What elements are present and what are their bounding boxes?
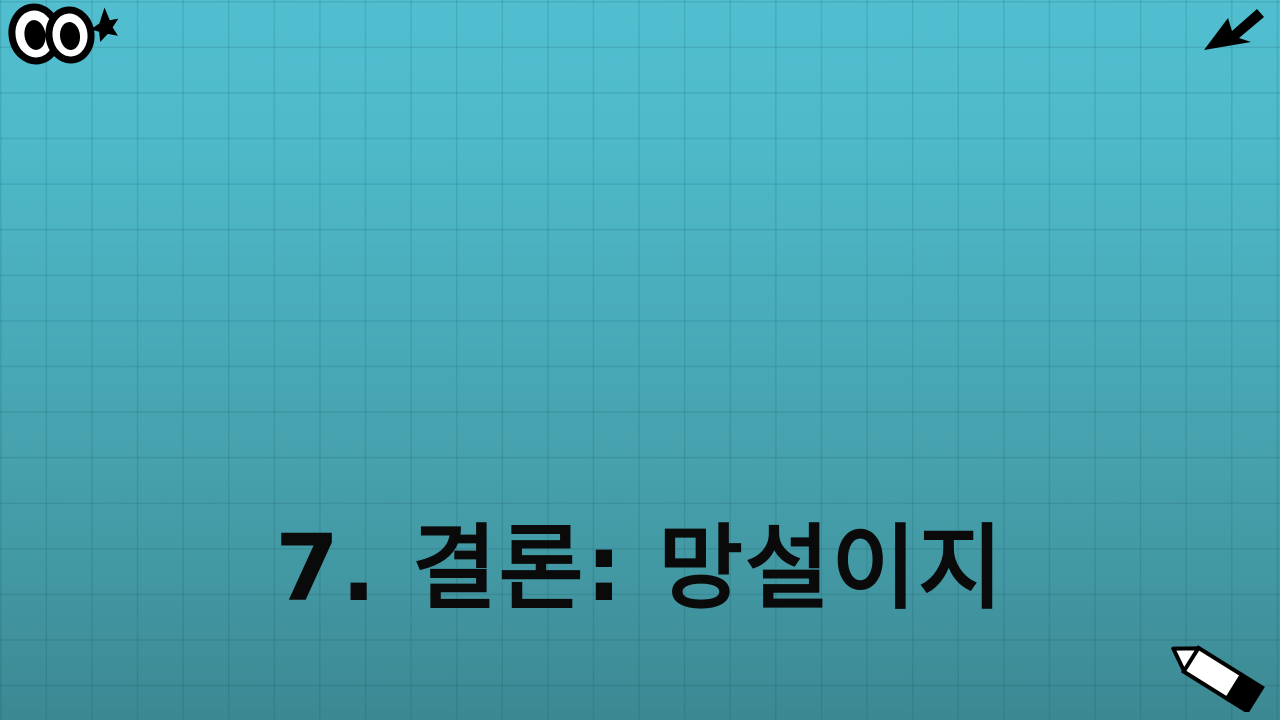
cartoon-eyes-icon — [6, 2, 118, 66]
headline-line-1: 7. 결론: 망설이지 — [0, 498, 1280, 640]
arrow-pointer-glyph — [1202, 4, 1266, 56]
arrow-pointer-icon — [1202, 4, 1266, 56]
page-title: 7. 결론: 망설이지 말고 도움을 요청하세요 — [0, 214, 1280, 720]
logo — [6, 2, 118, 66]
star-icon — [91, 8, 118, 43]
slide-canvas: 7. 결론: 망설이지 말고 도움을 요청하세요 — [0, 0, 1280, 720]
